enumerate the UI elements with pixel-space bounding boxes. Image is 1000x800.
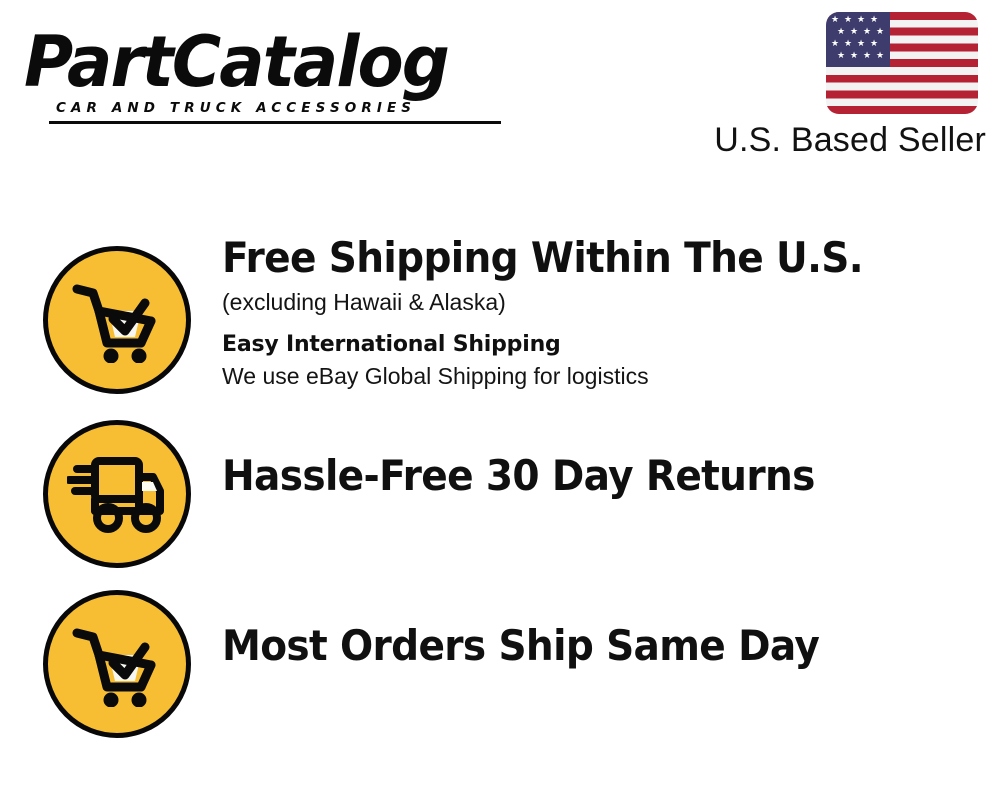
feature-title: Hassle-Free 30 Day Returns bbox=[222, 450, 929, 502]
logo-wordmark: PartCatalog bbox=[24, 24, 448, 100]
us-flag-icon: ★ ★ ★ ★ ★ ★ ★ ★ ★ ★ ★ ★ ★ ★ ★ ★ bbox=[826, 12, 978, 114]
feature-subtitle-strong: Easy International Shipping bbox=[222, 330, 982, 360]
feature-row: Hassle-Free 30 Day Returns bbox=[0, 412, 1000, 572]
logo-underline-rule bbox=[49, 121, 501, 124]
feature-text-block: Most Orders Ship Same Day bbox=[222, 620, 982, 672]
feature-title: Most Orders Ship Same Day bbox=[222, 620, 929, 672]
us-based-seller-label: U.S. Based Seller bbox=[714, 120, 986, 160]
feature-text-block: Free Shipping Within The U.S. (excluding… bbox=[222, 232, 982, 392]
feature-subtitle-detail: We use eBay Global Shipping for logistic… bbox=[222, 361, 982, 392]
delivery-truck-icon bbox=[43, 420, 191, 568]
feature-row: Free Shipping Within The U.S. (excluding… bbox=[0, 230, 1000, 410]
us-based-seller-badge: ★ ★ ★ ★ ★ ★ ★ ★ ★ ★ ★ ★ ★ ★ ★ ★ bbox=[716, 12, 986, 162]
flag-canton: ★ ★ ★ ★ ★ ★ ★ ★ ★ ★ ★ ★ ★ ★ ★ ★ bbox=[826, 12, 890, 67]
shopping-cart-check-icon bbox=[43, 590, 191, 738]
banner-header: PartCatalog CAR AND TRUCK ACCESSORIES ★ … bbox=[0, 0, 1000, 175]
feature-subtitle: (excluding Hawaii & Alaska) bbox=[222, 286, 982, 318]
partcatalog-logo: PartCatalog CAR AND TRUCK ACCESSORIES bbox=[24, 24, 494, 120]
feature-title: Free Shipping Within The U.S. bbox=[222, 232, 929, 284]
shopping-cart-check-icon bbox=[43, 246, 191, 394]
feature-row: Most Orders Ship Same Day bbox=[0, 580, 1000, 745]
shipping-info-banner: PartCatalog CAR AND TRUCK ACCESSORIES ★ … bbox=[0, 0, 1000, 800]
logo-tagline: CAR AND TRUCK ACCESSORIES bbox=[56, 100, 416, 116]
feature-text-block: Hassle-Free 30 Day Returns bbox=[222, 450, 982, 502]
